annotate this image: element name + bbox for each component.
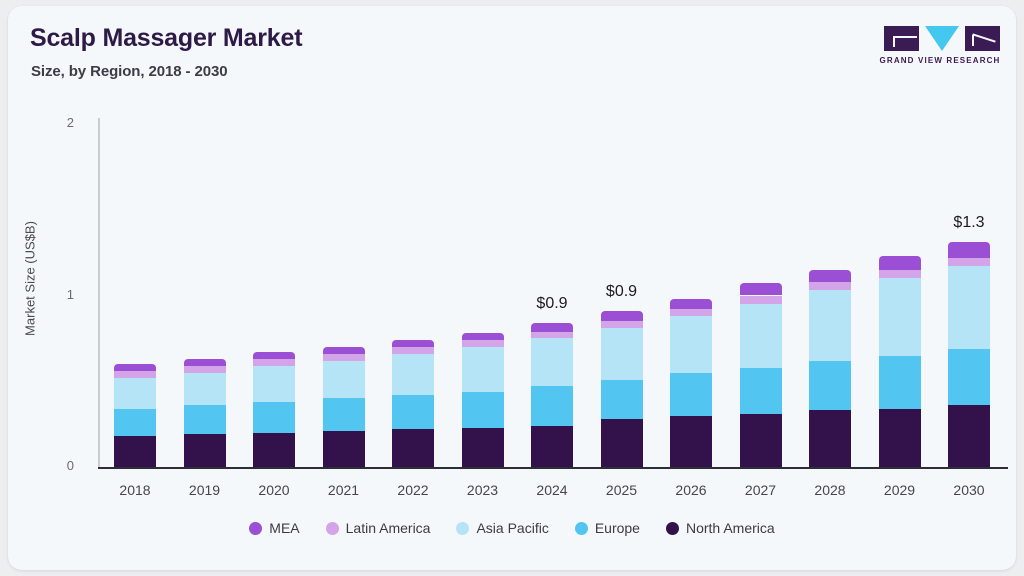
legend-swatch-icon (326, 522, 339, 535)
bar-segment-latin-america-2018[interactable] (114, 371, 156, 378)
bar-group-2019[interactable] (184, 6, 226, 467)
bar-segment-mea-2023[interactable] (462, 333, 504, 340)
bar-value-label-2030: $1.3 (934, 214, 1004, 232)
bar-segment-latin-america-2019[interactable] (184, 366, 226, 373)
legend-item-europe[interactable]: Europe (575, 520, 640, 536)
chart-legend: MEALatin AmericaAsia PacificEuropeNorth … (8, 520, 1016, 536)
x-axis-label-2020: 2020 (239, 482, 309, 498)
x-axis-label-2021: 2021 (309, 482, 379, 498)
legend-label: MEA (269, 520, 299, 536)
bar-segment-north-america-2021[interactable] (323, 431, 365, 467)
bar-segment-mea-2025[interactable] (601, 311, 643, 321)
bar-segment-north-america-2018[interactable] (114, 436, 156, 467)
bar-segment-europe-2029[interactable] (879, 356, 921, 409)
bar-segment-europe-2022[interactable] (392, 395, 434, 429)
chart-card: Scalp Massager Market Size, by Region, 2… (8, 6, 1016, 570)
bar-segment-asia-pacific-2022[interactable] (392, 354, 434, 395)
bar-segment-north-america-2029[interactable] (879, 409, 921, 467)
bar-group-2029[interactable] (879, 6, 921, 467)
bar-segment-asia-pacific-2024[interactable] (531, 338, 573, 386)
x-axis-label-2025: 2025 (587, 482, 657, 498)
bar-segment-mea-2024[interactable] (531, 323, 573, 332)
bar-segment-north-america-2028[interactable] (809, 410, 851, 467)
bar-segment-asia-pacific-2018[interactable] (114, 378, 156, 409)
bar-segment-asia-pacific-2027[interactable] (740, 304, 782, 367)
bar-segment-north-america-2027[interactable] (740, 414, 782, 467)
bar-segment-mea-2030[interactable] (948, 242, 990, 257)
chart-plot-area: Market Size (US$B) 012 20182019202020212… (8, 6, 1016, 570)
bar-segment-latin-america-2026[interactable] (670, 309, 712, 316)
bar-segment-mea-2020[interactable] (253, 352, 295, 359)
bar-segment-asia-pacific-2026[interactable] (670, 316, 712, 373)
bar-group-2027[interactable] (740, 6, 782, 467)
bar-group-2022[interactable] (392, 6, 434, 467)
legend-item-asia-pacific[interactable]: Asia Pacific (456, 520, 548, 536)
bar-value-label-2024: $0.9 (517, 295, 587, 313)
bar-segment-latin-america-2021[interactable] (323, 354, 365, 361)
bar-segment-asia-pacific-2023[interactable] (462, 347, 504, 392)
bar-segment-europe-2030[interactable] (948, 349, 990, 406)
bar-segment-asia-pacific-2028[interactable] (809, 290, 851, 360)
legend-label: Asia Pacific (476, 520, 548, 536)
bar-segment-mea-2019[interactable] (184, 359, 226, 366)
bar-segment-latin-america-2022[interactable] (392, 347, 434, 354)
x-axis-label-2030: 2030 (934, 482, 1004, 498)
bar-segment-north-america-2022[interactable] (392, 429, 434, 467)
bar-segment-latin-america-2027[interactable] (740, 296, 782, 305)
legend-label: North America (686, 520, 775, 536)
bars-layer: 201820192020202120222023$0.92024$0.92025… (8, 6, 1016, 570)
bar-segment-north-america-2020[interactable] (253, 433, 295, 467)
bar-segment-europe-2028[interactable] (809, 361, 851, 411)
bar-segment-mea-2029[interactable] (879, 256, 921, 270)
bar-segment-mea-2028[interactable] (809, 270, 851, 282)
x-axis-label-2028: 2028 (795, 482, 865, 498)
bar-group-2023[interactable] (462, 6, 504, 467)
bar-segment-north-america-2025[interactable] (601, 419, 643, 467)
x-axis-label-2019: 2019 (170, 482, 240, 498)
bar-segment-north-america-2026[interactable] (670, 416, 712, 467)
bar-segment-north-america-2023[interactable] (462, 428, 504, 467)
bar-segment-europe-2018[interactable] (114, 409, 156, 436)
bar-group-2028[interactable] (809, 6, 851, 467)
bar-segment-latin-america-2020[interactable] (253, 359, 295, 366)
bar-segment-asia-pacific-2025[interactable] (601, 328, 643, 379)
bar-segment-mea-2027[interactable] (740, 283, 782, 295)
bar-segment-europe-2019[interactable] (184, 405, 226, 434)
bar-segment-asia-pacific-2030[interactable] (948, 266, 990, 348)
bar-segment-asia-pacific-2019[interactable] (184, 373, 226, 406)
bar-segment-mea-2021[interactable] (323, 347, 365, 354)
legend-swatch-icon (456, 522, 469, 535)
bar-group-2024[interactable] (531, 6, 573, 467)
bar-segment-latin-america-2024[interactable] (531, 332, 573, 339)
bar-segment-north-america-2024[interactable] (531, 426, 573, 467)
bar-value-label-2025: $0.9 (587, 283, 657, 301)
legend-label: Europe (595, 520, 640, 536)
bar-segment-europe-2027[interactable] (740, 368, 782, 414)
bar-segment-latin-america-2030[interactable] (948, 258, 990, 267)
bar-segment-europe-2020[interactable] (253, 402, 295, 433)
x-axis-label-2023: 2023 (448, 482, 518, 498)
x-axis-label-2027: 2027 (726, 482, 796, 498)
legend-item-north-america[interactable]: North America (666, 520, 775, 536)
legend-item-mea[interactable]: MEA (249, 520, 299, 536)
legend-swatch-icon (249, 522, 262, 535)
bar-segment-latin-america-2029[interactable] (879, 270, 921, 279)
bar-group-2025[interactable] (601, 6, 643, 467)
x-axis-label-2022: 2022 (378, 482, 448, 498)
x-axis-label-2029: 2029 (865, 482, 935, 498)
bar-segment-north-america-2019[interactable] (184, 434, 226, 467)
bar-segment-mea-2026[interactable] (670, 299, 712, 309)
bar-segment-latin-america-2025[interactable] (601, 321, 643, 328)
bar-segment-north-america-2030[interactable] (948, 405, 990, 467)
bar-segment-mea-2022[interactable] (392, 340, 434, 347)
bar-group-2026[interactable] (670, 6, 712, 467)
x-axis-label-2018: 2018 (100, 482, 170, 498)
bar-segment-europe-2021[interactable] (323, 398, 365, 431)
legend-label: Latin America (346, 520, 431, 536)
bar-segment-europe-2024[interactable] (531, 386, 573, 425)
bar-group-2030[interactable] (948, 6, 990, 467)
x-axis-label-2024: 2024 (517, 482, 587, 498)
bar-group-2018[interactable] (114, 6, 156, 467)
legend-swatch-icon (575, 522, 588, 535)
bar-group-2020[interactable] (253, 6, 295, 467)
bar-segment-asia-pacific-2021[interactable] (323, 361, 365, 399)
bar-segment-mea-2018[interactable] (114, 364, 156, 371)
bar-segment-latin-america-2023[interactable] (462, 340, 504, 347)
bar-segment-latin-america-2028[interactable] (809, 282, 851, 291)
legend-item-latin-america[interactable]: Latin America (326, 520, 431, 536)
bar-segment-asia-pacific-2029[interactable] (879, 278, 921, 355)
bar-segment-europe-2023[interactable] (462, 392, 504, 428)
bar-segment-europe-2026[interactable] (670, 373, 712, 416)
bar-group-2021[interactable] (323, 6, 365, 467)
bar-segment-europe-2025[interactable] (601, 380, 643, 419)
bar-segment-asia-pacific-2020[interactable] (253, 366, 295, 402)
x-axis-label-2026: 2026 (656, 482, 726, 498)
legend-swatch-icon (666, 522, 679, 535)
